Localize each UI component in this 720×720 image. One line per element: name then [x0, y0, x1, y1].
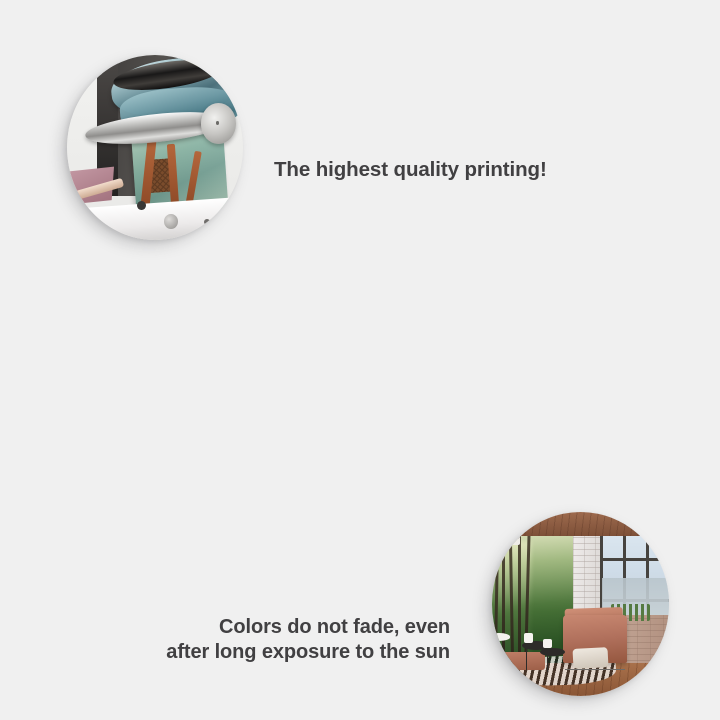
- feature-block-odorless-safe: The product is odorless and safe for all…: [0, 440, 720, 655]
- feature-block-colorfastness: Colors do not fade, even after long expo…: [0, 250, 720, 460]
- press-roller-cap: [201, 103, 236, 144]
- feature-block-printing-quality: The highest quality printing!: [0, 0, 720, 260]
- printing-press-scene: [67, 55, 243, 240]
- printing-press-photo: [67, 55, 243, 240]
- promo-canvas: The highest quality printing! Colors do …: [0, 0, 720, 720]
- press-bolt: [102, 226, 108, 232]
- caption-printing-quality: The highest quality printing!: [274, 131, 547, 183]
- caption-line: The highest quality printing!: [274, 158, 547, 181]
- press-bolt: [164, 214, 178, 229]
